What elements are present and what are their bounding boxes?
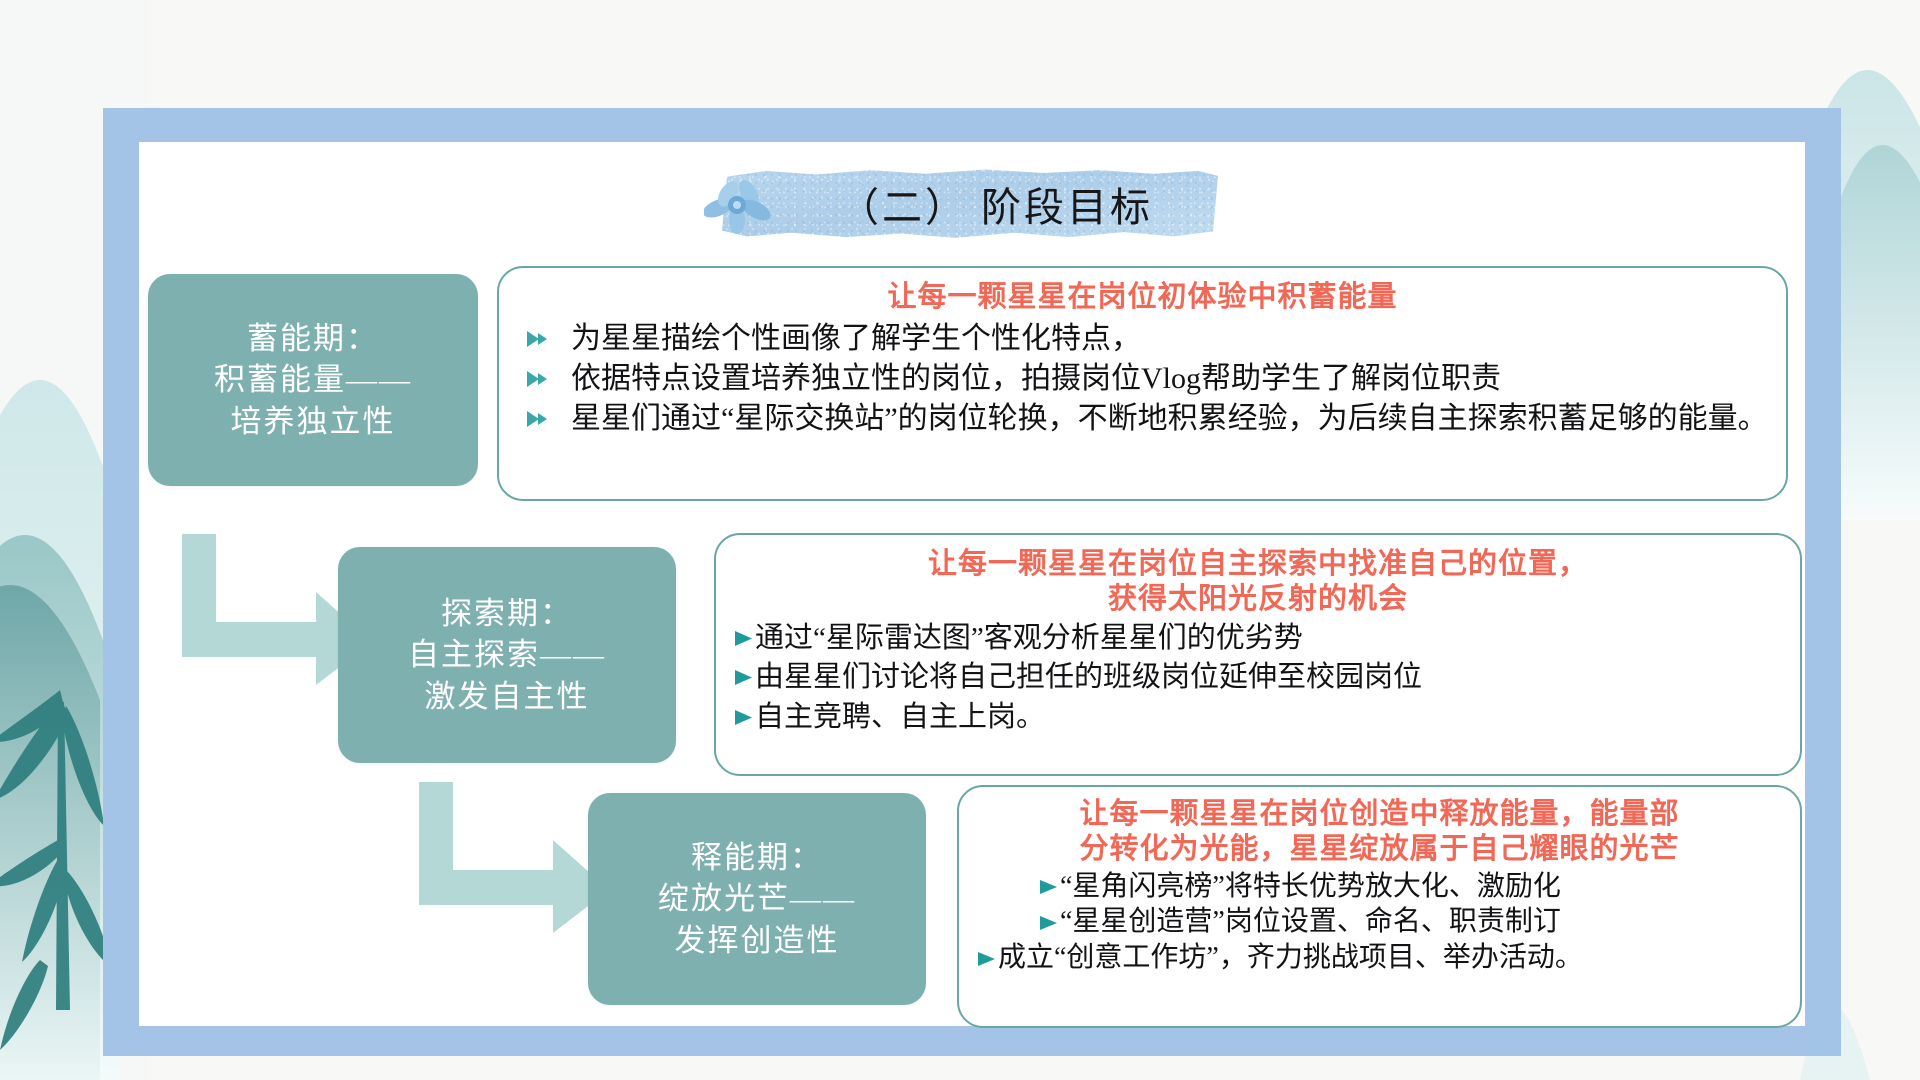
stage-card-3-heading-line2: 分转化为光能，星星绽放属于自己耀眼的光芒 [977, 832, 1782, 867]
list-item-text: “星角闪亮榜”将特长优势放大化、激励化 [1060, 869, 1561, 905]
stage-card-1-bullets: 为星星描绘个性画像了解学生个性化特点， 依据特点设置培养独立性的岗位，拍摄岗位V… [517, 319, 1768, 438]
list-item-text: 为星星描绘个性画像了解学生个性化特点， [571, 319, 1141, 358]
list-item: 成立“创意工作坊”，齐力挑战项目、举办活动。 [977, 940, 1782, 976]
stage-card-1-heading: 让每一颗星星在岗位初体验中积蓄能量 [517, 280, 1768, 315]
triangle-bullet-icon [525, 370, 549, 388]
triangle-bullet-icon [1039, 915, 1058, 931]
stage-card-2-bullets: 通过“星际雷达图”客观分析星星们的优劣势 由星星们讨论将自己担任的班级岗位延伸至… [734, 619, 1782, 738]
triangle-bullet-icon [525, 410, 549, 428]
stage-card-3-bullets: “星角闪亮榜”将特长优势放大化、激励化 “星星创造营”岗位设置、命名、职责制订 … [977, 869, 1782, 976]
list-item-text: 通过“星际雷达图”客观分析星星们的优劣势 [755, 619, 1303, 658]
triangle-bullet-icon [525, 330, 549, 348]
list-item: 自主竞聘、自主上岗。 [734, 698, 1782, 737]
stage-label-1-line2: 积蓄能量—— [214, 359, 412, 400]
list-item-text: “星星创造营”岗位设置、命名、职责制订 [1060, 904, 1561, 940]
list-item: 星星们通过“星际交换站”的岗位轮换，不断地积累经验，为后续自主探索积蓄足够的能量… [517, 399, 1768, 438]
stage-label-3-line1: 释能期： [691, 837, 823, 878]
triangle-bullet-icon [734, 709, 753, 726]
stage-label-1-line3: 培养独立性 [231, 401, 396, 442]
triangle-bullet-icon [977, 951, 996, 967]
elbow-arrow-icon [413, 778, 613, 933]
stage-card-3: 让每一颗星星在岗位创造中释放能量，能量部 分转化为光能，星星绽放属于自己耀眼的光… [957, 785, 1802, 1028]
stage-label-2-line3: 激发自主性 [425, 676, 590, 717]
stage-label-3-line3: 发挥创造性 [675, 920, 840, 961]
list-item-text: 自主竞聘、自主上岗。 [755, 698, 1045, 737]
page-title-text: （二） 阶段目标 [722, 168, 1218, 240]
triangle-bullet-icon [1039, 879, 1058, 895]
slide-canvas: （二） 阶段目标 蓄能期： 积蓄能量—— 培养独立性 让每一颗星星在岗位初体验中… [0, 0, 1920, 1080]
list-item: 由星星们讨论将自己担任的班级岗位延伸至校园岗位 [734, 658, 1782, 697]
stage-label-1[interactable]: 蓄能期： 积蓄能量—— 培养独立性 [148, 274, 478, 486]
stage-card-3-heading: 让每一颗星星在岗位创造中释放能量，能量部 分转化为光能，星星绽放属于自己耀眼的光… [977, 797, 1782, 867]
page-title: （二） 阶段目标 [722, 168, 1218, 240]
stage-card-2: 让每一颗星星在岗位自主探索中找准自己的位置， 获得太阳光反射的机会 通过“星际雷… [714, 533, 1802, 776]
stage-card-3-heading-line1: 让每一颗星星在岗位创造中释放能量，能量部 [977, 797, 1782, 832]
stage-label-3[interactable]: 释能期： 绽放光芒—— 发挥创造性 [588, 793, 926, 1005]
stage-card-2-heading-line1: 让每一颗星星在岗位自主探索中找准自己的位置， [734, 547, 1782, 582]
stage-label-2-line1: 探索期： [441, 593, 573, 634]
list-item-text: 由星星们讨论将自己担任的班级岗位延伸至校园岗位 [755, 658, 1422, 697]
flower-icon [704, 174, 778, 234]
list-item: 依据特点设置培养独立性的岗位，拍摄岗位Vlog帮助学生了解岗位职责 [517, 359, 1768, 398]
corner-dot-decoration [1810, 1030, 1836, 1056]
stage-label-3-line2: 绽放光芒—— [658, 878, 856, 919]
stage-label-2-line2: 自主探索—— [408, 634, 606, 675]
list-item: “星角闪亮榜”将特长优势放大化、激励化 [977, 869, 1782, 905]
list-item: 为星星描绘个性画像了解学生个性化特点， [517, 319, 1768, 358]
list-item: 通过“星际雷达图”客观分析星星们的优劣势 [734, 619, 1782, 658]
stage-card-2-heading-line2: 获得太阳光反射的机会 [734, 582, 1782, 617]
stage-label-2[interactable]: 探索期： 自主探索—— 激发自主性 [338, 547, 676, 763]
triangle-bullet-icon [734, 630, 753, 647]
list-item-text: 依据特点设置培养独立性的岗位，拍摄岗位Vlog帮助学生了解岗位职责 [571, 359, 1501, 398]
list-item: “星星创造营”岗位设置、命名、职责制订 [977, 904, 1782, 940]
stage-card-1: 让每一颗星星在岗位初体验中积蓄能量 为星星描绘个性画像了解学生个性化特点， 依据… [497, 266, 1788, 501]
stage-card-2-heading: 让每一颗星星在岗位自主探索中找准自己的位置， 获得太阳光反射的机会 [734, 547, 1782, 617]
list-item-text: 成立“创意工作坊”，齐力挑战项目、举办活动。 [998, 940, 1583, 976]
list-item-text: 星星们通过“星际交换站”的岗位轮换，不断地积累经验，为后续自主探索积蓄足够的能量… [571, 399, 1768, 438]
stage-label-1-line1: 蓄能期： [247, 318, 379, 359]
triangle-bullet-icon [734, 669, 753, 686]
